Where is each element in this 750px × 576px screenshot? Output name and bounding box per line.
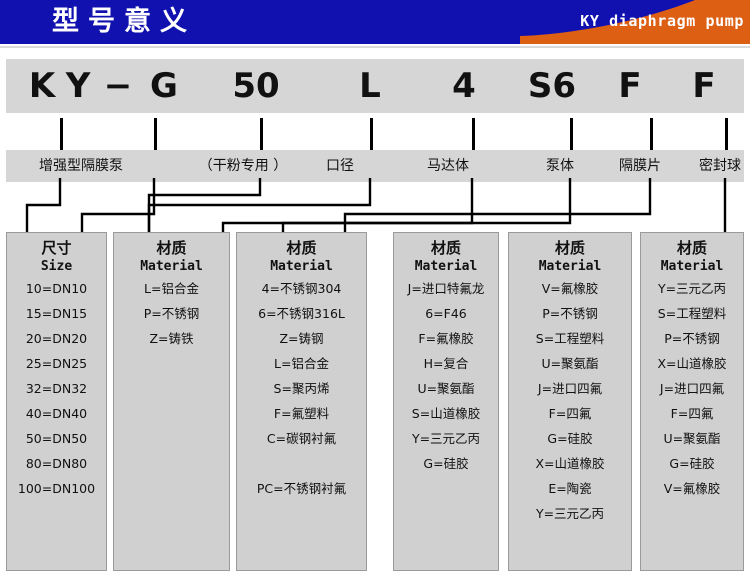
definition-item: L=铝合金 <box>237 357 366 382</box>
header-subtitle: KY diaphragm pump <box>580 12 744 30</box>
definition-item: U=聚氨酯 <box>394 382 498 407</box>
definition-item: S=聚丙烯 <box>237 382 366 407</box>
definition-item: 15=DN15 <box>7 307 106 332</box>
definition-item: S=工程塑料 <box>509 332 631 357</box>
definition-item-list: 10=DN1015=DN1520=DN2025=DN2532=DN3240=DN… <box>7 282 106 507</box>
definition-item: 80=DN80 <box>7 457 106 482</box>
definition-item: Z=铸钢 <box>237 332 366 357</box>
model-code-char: 4 <box>442 59 486 113</box>
tick-mark <box>570 118 573 151</box>
definition-head-en: Material <box>237 258 366 275</box>
definition-item: E=陶瓷 <box>509 482 631 507</box>
definition-box-size: 尺寸Size10=DN1015=DN1520=DN2025=DN2532=DN3… <box>6 232 107 571</box>
definition-item: Y=三元乙丙 <box>641 282 743 307</box>
definition-item-list: V=氟橡胶P=不锈钢S=工程塑料U=聚氨酯J=进口四氟F=四氟G=硅胶X=山道橡… <box>509 282 631 532</box>
definition-item-list: 4=不锈钢3046=不锈钢316LZ=铸钢L=铝合金S=聚丙烯F=氟塑料C=碳钢… <box>237 282 366 507</box>
definition-item-list: L=铝合金P=不锈钢Z=铸铁 <box>114 282 229 357</box>
definition-item: J=进口四氟 <box>641 382 743 407</box>
definition-item: G=硅胶 <box>509 432 631 457</box>
connector-line <box>82 178 154 232</box>
definition-item: G=硅胶 <box>394 457 498 482</box>
definition-item: G=硅胶 <box>641 457 743 482</box>
definition-item-spacer <box>237 457 366 482</box>
definition-item: 100=DN100 <box>7 482 106 507</box>
definition-head-en: Material <box>509 258 631 275</box>
definition-item: U=聚氨酯 <box>509 357 631 382</box>
definition-item: V=氟橡胶 <box>641 482 743 507</box>
diagram-root: 型号意义 KY diaphragm pump KY−G50L4S6FF 增强型隔… <box>0 0 750 576</box>
definition-item: X=山道橡胶 <box>509 457 631 482</box>
definition-box-header: 尺寸Size <box>7 233 106 275</box>
definition-item: F=氟塑料 <box>237 407 366 432</box>
definition-item: Y=三元乙丙 <box>394 432 498 457</box>
model-code-band: KY−G50L4S6FF <box>6 59 744 113</box>
definition-item: J=进口特氟龙 <box>394 282 498 307</box>
definition-item: 20=DN20 <box>7 332 106 357</box>
page-title: 型号意义 <box>52 2 196 42</box>
definition-item: V=氟橡胶 <box>509 282 631 307</box>
definition-box-seal-ball-material: 材质MaterialV=氟橡胶P=不锈钢S=工程塑料U=聚氨酯J=进口四氟F=四… <box>508 232 632 571</box>
definition-item: X=山道橡胶 <box>641 357 743 382</box>
definition-item: 4=不锈钢304 <box>237 282 366 307</box>
definition-head-cn: 材质 <box>394 239 498 258</box>
definition-item: S=工程塑料 <box>641 307 743 332</box>
model-code-char: − <box>96 59 140 113</box>
definition-item: 50=DN50 <box>7 432 106 457</box>
definition-item: F=氟橡胶 <box>394 332 498 357</box>
definition-item: C=碳钢衬氟 <box>237 432 366 457</box>
definition-item: 32=DN32 <box>7 382 106 407</box>
header-divider <box>0 46 750 48</box>
definition-head-cn: 材质 <box>641 239 743 258</box>
definition-box-header: 材质Material <box>509 233 631 275</box>
definition-head-en: Material <box>114 258 229 275</box>
definition-box-header: 材质Material <box>114 233 229 275</box>
definition-item: 10=DN10 <box>7 282 106 307</box>
definition-item: 25=DN25 <box>7 357 106 382</box>
elbow-connector-lines <box>0 178 750 232</box>
definition-head-en: Material <box>641 258 743 275</box>
tick-mark <box>472 118 475 151</box>
definition-item: PC=不锈钢衬氟 <box>237 482 366 507</box>
definition-item: U=聚氨酯 <box>641 432 743 457</box>
tick-mark <box>60 118 63 151</box>
definition-item: H=复合 <box>394 357 498 382</box>
model-code-char: F <box>608 59 652 113</box>
tick-mark <box>725 118 728 151</box>
definition-head-cn: 尺寸 <box>7 239 106 258</box>
tick-mark <box>370 118 373 151</box>
tick-mark <box>260 118 263 151</box>
definition-head-en: Material <box>394 258 498 275</box>
definition-item: S=山道橡胶 <box>394 407 498 432</box>
definition-item: P=不锈钢 <box>509 307 631 332</box>
definition-head-cn: 材质 <box>509 239 631 258</box>
definition-box-pump-body-material: 材质Material4=不锈钢3046=不锈钢316LZ=铸钢L=铝合金S=聚丙… <box>236 232 367 571</box>
definition-item: Y=三元乙丙 <box>509 507 631 532</box>
model-code-char: 50 <box>228 59 284 113</box>
definition-item: 6=F46 <box>394 307 498 332</box>
definition-item-list: J=进口特氟龙6=F46F=氟橡胶H=复合U=聚氨酯S=山道橡胶Y=三元乙丙G=… <box>394 282 498 482</box>
definition-box-seal-seat-material: 材质MaterialY=三元乙丙S=工程塑料P=不锈钢X=山道橡胶J=进口四氟F… <box>640 232 744 571</box>
definition-item-list: Y=三元乙丙S=工程塑料P=不锈钢X=山道橡胶J=进口四氟F=四氟U=聚氨酯G=… <box>641 282 743 507</box>
model-code-char: Y <box>56 59 100 113</box>
definition-item: Z=铸铁 <box>114 332 229 357</box>
model-code-char: G <box>140 59 188 113</box>
definition-item: P=不锈钢 <box>641 332 743 357</box>
model-code-char: L <box>348 59 392 113</box>
tick-mark <box>154 118 157 151</box>
definition-box-motor-body-material: 材质MaterialL=铝合金P=不锈钢Z=铸铁 <box>113 232 230 571</box>
definition-head-cn: 材质 <box>237 239 366 258</box>
connector-line <box>27 178 60 232</box>
definition-item: L=铝合金 <box>114 282 229 307</box>
definition-box-header: 材质Material <box>237 233 366 275</box>
definition-head-cn: 材质 <box>114 239 229 258</box>
definition-box-header: 材质Material <box>641 233 743 275</box>
definition-item: 6=不锈钢316L <box>237 307 366 332</box>
definition-item: F=四氟 <box>509 407 631 432</box>
model-code-char: F <box>682 59 726 113</box>
definition-item: F=四氟 <box>641 407 743 432</box>
definition-box-header: 材质Material <box>394 233 498 275</box>
tick-mark <box>650 118 653 151</box>
page-header: 型号意义 KY diaphragm pump <box>0 0 750 44</box>
definition-item: J=进口四氟 <box>509 382 631 407</box>
definition-item: P=不锈钢 <box>114 307 229 332</box>
definition-item: 40=DN40 <box>7 407 106 432</box>
definition-box-diaphragm-material: 材质MaterialJ=进口特氟龙6=F46F=氟橡胶H=复合U=聚氨酯S=山道… <box>393 232 499 571</box>
definition-head-en: Size <box>7 258 106 275</box>
model-code-char: S6 <box>525 59 579 113</box>
